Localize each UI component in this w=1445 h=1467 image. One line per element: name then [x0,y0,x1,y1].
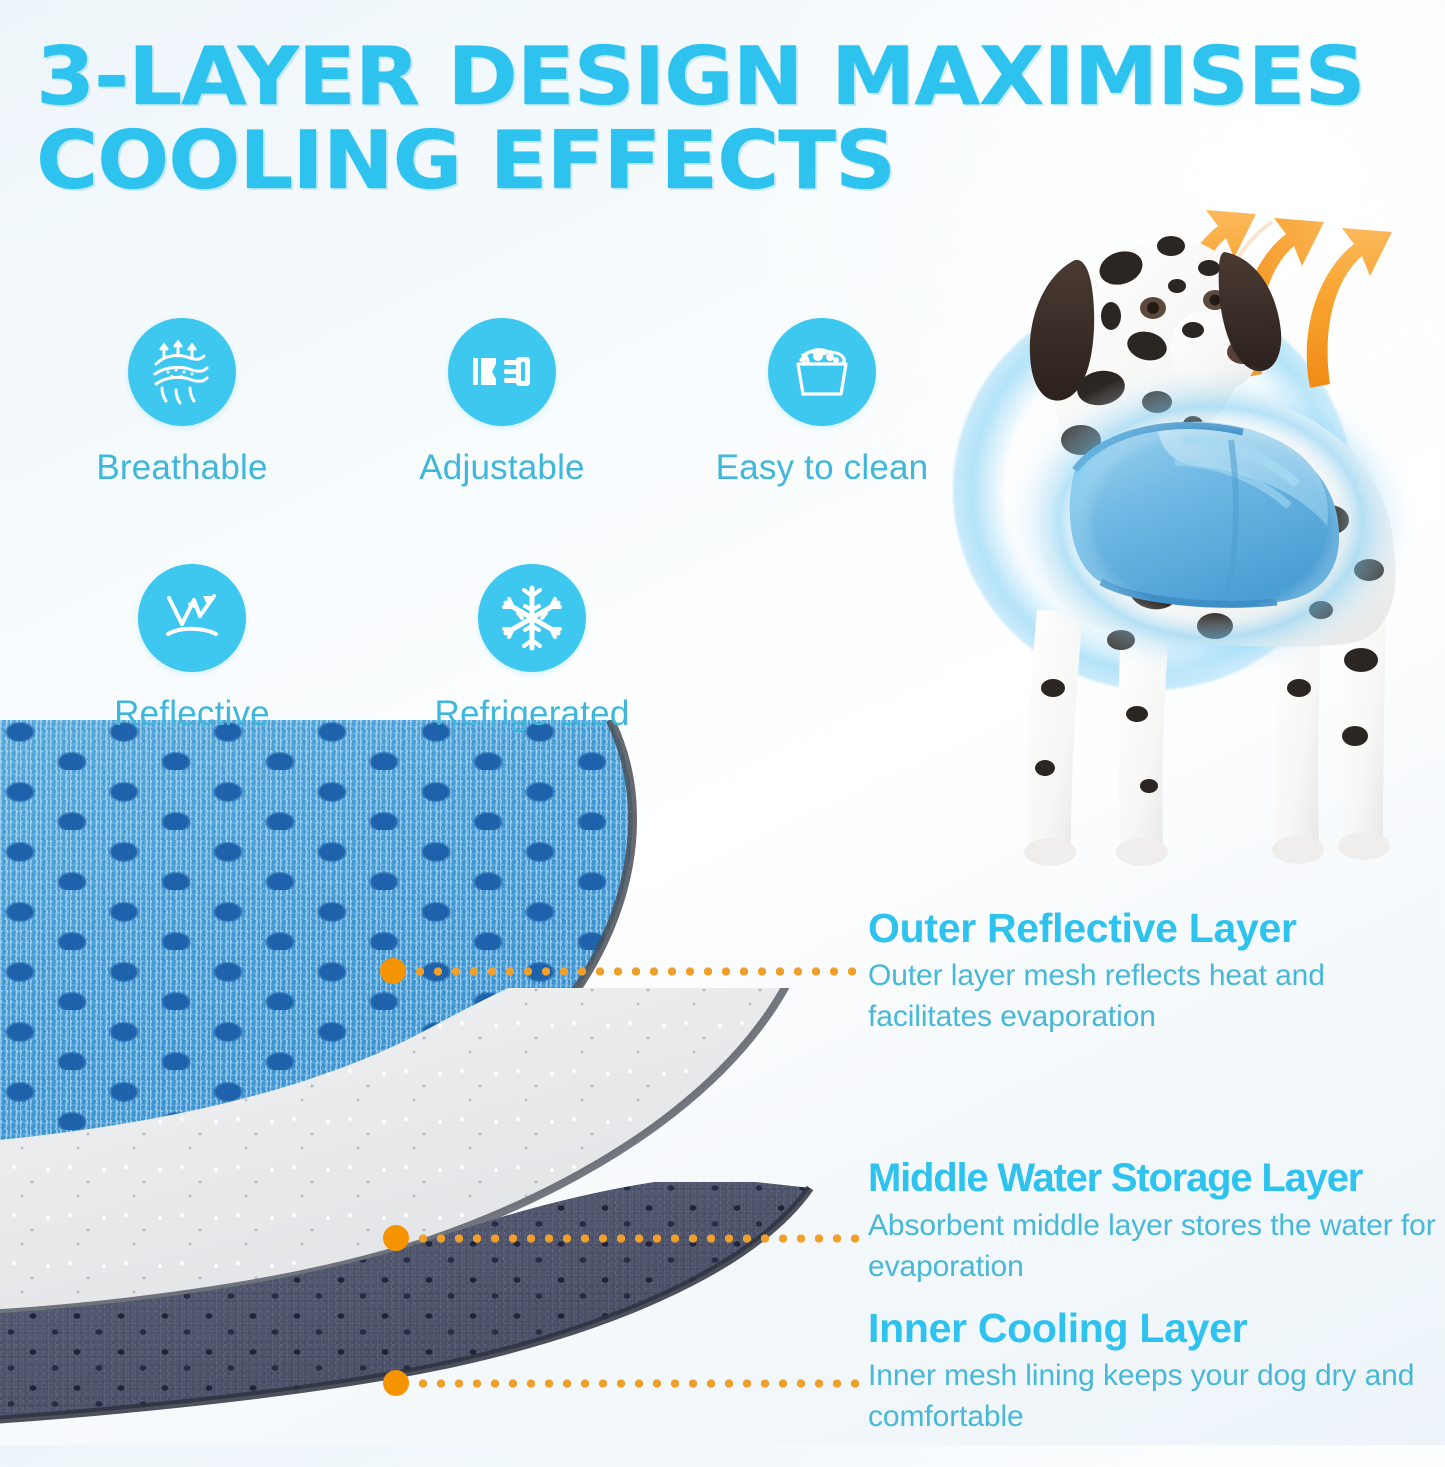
breathable-fabric-icon [146,336,218,408]
reflect-arrows-icon [156,582,228,654]
layer-stack-illustration [0,720,910,1460]
infographic-canvas: 3-LAYER DESIGN MAXIMISES COOLING EFFECTS [0,0,1445,1445]
feature-label: Adjustable [419,448,584,488]
dalmatian-dog-illustration [925,140,1445,880]
callout-inner: Inner Cooling Layer Inner mesh lining ke… [868,1305,1445,1437]
refrigerated-badge [478,564,586,672]
callout-middle: Middle Water Storage Layer Absorbent mid… [868,1155,1445,1287]
layer-sheet-inner [0,1182,910,1462]
feature-label: Breathable [96,448,267,488]
easy-to-clean-badge [768,318,876,426]
feature-label: Reflective [114,694,270,734]
callout-title: Inner Cooling Layer [868,1305,1445,1351]
headline-line-2: COOLING EFFECTS [36,124,1223,198]
breathable-badge [128,318,236,426]
feature-easy-to-clean[interactable]: Easy to clean [662,318,982,488]
callout-title: Outer Reflective Layer [868,905,1445,951]
headline-line-1: 3-LAYER DESIGN MAXIMISES [36,40,1223,114]
buckle-icon [466,336,538,408]
callout-description: Inner mesh lining keeps your dog dry and… [868,1355,1445,1437]
product-photo [925,140,1445,880]
page-title: 3-LAYER DESIGN MAXIMISES COOLING EFFECTS [36,40,1156,198]
feature-list: Breathable [22,318,982,734]
feature-refrigerated[interactable]: Refrigerated [362,564,702,734]
inner-layer-shape [0,1182,910,1462]
wash-basin-icon [786,336,858,408]
adjustable-badge [448,318,556,426]
reflective-badge [138,564,246,672]
feature-adjustable[interactable]: Adjustable [342,318,662,488]
feature-breathable[interactable]: Breathable [22,318,342,488]
feature-label: Refrigerated [434,694,629,734]
callout-description: Absorbent middle layer stores the water … [868,1205,1445,1287]
callout-description: Outer layer mesh reflects heat and facil… [868,955,1445,1037]
feature-label: Easy to clean [716,448,929,488]
feature-reflective[interactable]: Reflective [22,564,362,734]
callout-title: Middle Water Storage Layer [868,1155,1445,1201]
callout-outer: Outer Reflective Layer Outer layer mesh … [868,905,1445,1037]
snowflake-icon [494,580,570,656]
